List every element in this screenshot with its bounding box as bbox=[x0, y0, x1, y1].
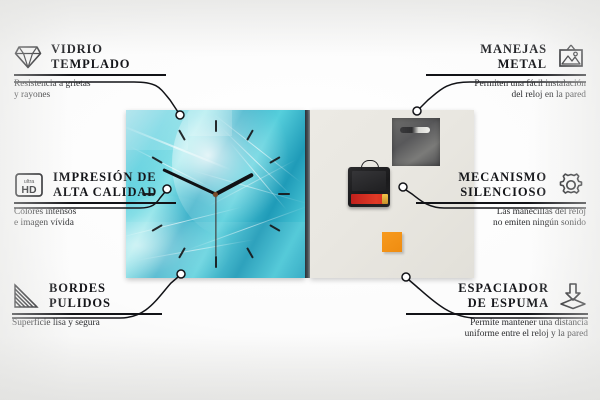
gear-icon bbox=[556, 171, 586, 199]
callout-vidrio-templado: VIDRIO TEMPLADO Resistencia a grietas y … bbox=[14, 42, 174, 102]
second-hand bbox=[215, 194, 216, 256]
callout-rule bbox=[416, 202, 586, 204]
callout-title: IMPRESIÓN DE ALTA CALIDAD bbox=[53, 170, 157, 199]
callout-rule bbox=[426, 74, 586, 76]
clock-mechanism bbox=[348, 167, 390, 207]
svg-text:HD: HD bbox=[21, 184, 37, 196]
callout-head: VIDRIO TEMPLADO bbox=[14, 42, 174, 71]
callout-mecanismo-silencioso: MECANISMO SILENCIOSO Las manecillas del … bbox=[416, 170, 586, 230]
callout-rule bbox=[12, 313, 162, 315]
picture-frame-icon bbox=[556, 43, 586, 71]
callout-head: ultra HD IMPRESIÓN DE ALTA CALIDAD bbox=[14, 170, 184, 199]
callout-title: ESPACIADOR DE ESPUMA bbox=[458, 281, 549, 310]
callout-head: MECANISMO SILENCIOSO bbox=[416, 170, 586, 199]
callout-rule bbox=[14, 202, 176, 204]
callout-title: MANEJAS METAL bbox=[480, 42, 547, 71]
callout-description: Permite mantener una distancia uniforme … bbox=[406, 318, 588, 341]
callout-espaciador-espuma: ESPACIADOR DE ESPUMA Permite mantener un… bbox=[406, 281, 588, 341]
diamond-icon bbox=[14, 44, 42, 70]
callout-head: ESPACIADOR DE ESPUMA bbox=[406, 281, 588, 310]
callout-manejas-metal: MANEJAS METAL Permiten una fácil instala… bbox=[426, 42, 586, 102]
callout-description: Permiten una fácil instalación del reloj… bbox=[426, 79, 586, 102]
callout-description: Colores intensos e imagen vívida bbox=[14, 207, 184, 230]
callout-title: MECANISMO SILENCIOSO bbox=[458, 170, 547, 199]
ultra-hd-icon: ultra HD bbox=[14, 171, 44, 199]
arrow-down-pad-icon bbox=[558, 282, 588, 310]
callout-rule bbox=[406, 313, 588, 315]
hanger-slot bbox=[400, 127, 430, 133]
callout-description: Superficie lisa y segura bbox=[12, 318, 172, 330]
callout-impresion-alta-calidad: ultra HD IMPRESIÓN DE ALTA CALIDAD Color… bbox=[14, 170, 184, 230]
callout-title: BORDES PULIDOS bbox=[49, 281, 111, 310]
callout-title: VIDRIO TEMPLADO bbox=[51, 42, 130, 71]
callout-description: Las manecillas del reloj no emiten ningú… bbox=[416, 207, 586, 230]
hand-center-cap bbox=[213, 192, 218, 197]
callout-bordes-pulidos: BORDES PULIDOS Superficie lisa y segura bbox=[12, 281, 172, 329]
callout-head: BORDES PULIDOS bbox=[12, 281, 172, 310]
foam-spacer bbox=[382, 232, 402, 252]
mechanism-hanging-loop bbox=[361, 160, 379, 170]
hatched-triangle-icon bbox=[12, 283, 40, 309]
callout-rule bbox=[14, 74, 166, 76]
hour-hand bbox=[215, 173, 254, 196]
callout-description: Resistencia a grietas y rayones bbox=[14, 79, 174, 102]
infographic-canvas: VIDRIO TEMPLADO Resistencia a grietas y … bbox=[0, 0, 600, 400]
mechanism-contact bbox=[382, 194, 388, 204]
metal-hanger-plate bbox=[392, 118, 440, 166]
callout-head: MANEJAS METAL bbox=[426, 42, 586, 71]
mechanism-body bbox=[352, 171, 386, 191]
